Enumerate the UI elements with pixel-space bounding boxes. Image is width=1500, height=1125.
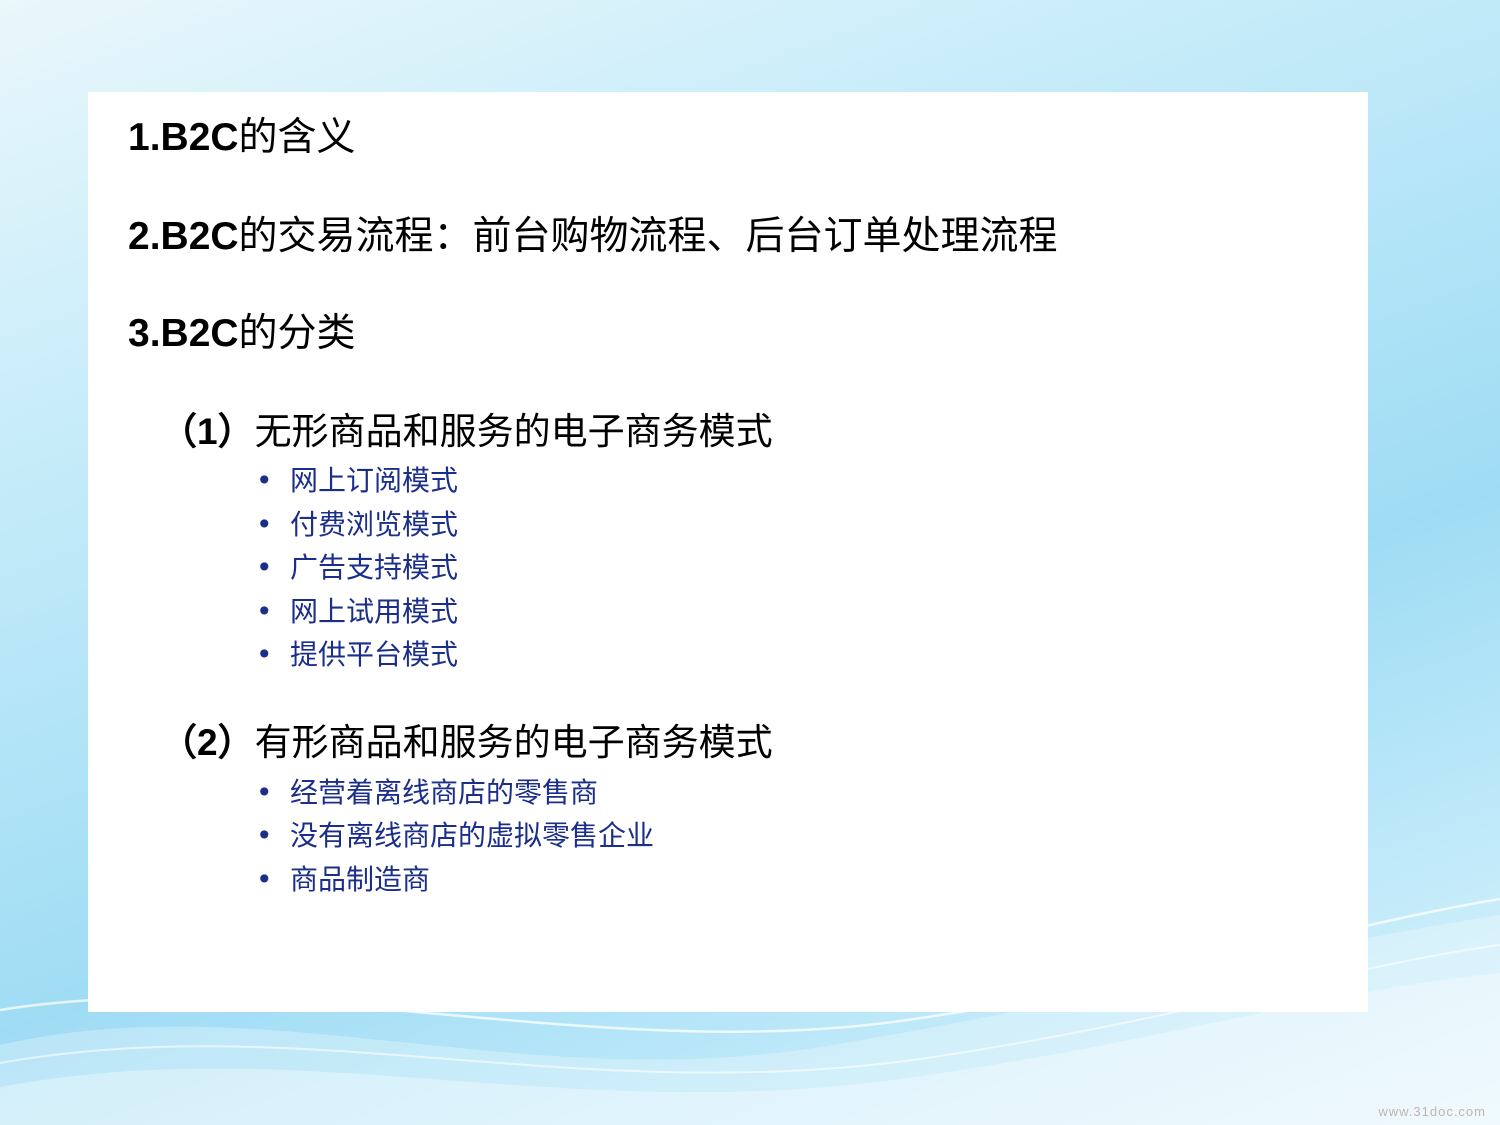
outline-item-1-lead: 1.B2C (128, 116, 239, 159)
subgroup-2-heading: （2）有形商品和服务的电子商务模式 (160, 722, 1328, 765)
subgroup-1-number: （1） (160, 411, 255, 452)
bullet-dot-icon: • (256, 546, 273, 589)
list-item-label: 广告支持模式 (290, 551, 458, 584)
subgroup-2-bullet-list: •经营着离线商店的零售商 •没有离线商店的虚拟零售企业 •商品制造商 (128, 771, 1328, 901)
list-item-label: 商品制造商 (290, 863, 430, 896)
bullet-dot-icon: • (256, 503, 273, 546)
bullet-dot-icon: • (256, 590, 273, 633)
list-item: •没有离线商店的虚拟零售企业 (128, 814, 1328, 857)
list-item-label: 经营着离线商店的零售商 (290, 776, 598, 809)
subgroup-1-heading: （1）无形商品和服务的电子商务模式 (160, 411, 1328, 454)
outline-item-1-text: 的含义 (239, 115, 356, 160)
list-item-label: 提供平台模式 (290, 638, 458, 671)
outline-item-2-text: 的交易流程：前台购物流程、后台订单处理流程 (239, 214, 1058, 259)
bullet-dot-icon: • (256, 858, 273, 901)
list-item-label: 网上试用模式 (290, 595, 458, 628)
subgroup-2-number: （2） (160, 722, 255, 763)
list-item: •提供平台模式 (128, 633, 1328, 676)
outline-item-3-text: 的分类 (239, 311, 356, 356)
bullet-dot-icon: • (256, 633, 273, 676)
outline-item-3-lead: 3.B2C (128, 312, 239, 355)
list-item: •网上订阅模式 (128, 459, 1328, 502)
bullet-dot-icon: • (256, 814, 273, 857)
spacer-3 (128, 355, 1328, 411)
outline-item-1: 1.B2C的含义 (128, 118, 1328, 159)
outline-item-2: 2.B2C的交易流程：前台购物流程、后台订单处理流程 (128, 217, 1328, 258)
subgroup-1-bullet-list: •网上订阅模式 •付费浏览模式 •广告支持模式 •网上试用模式 •提供平台模式 (128, 459, 1328, 676)
bullet-dot-icon: • (256, 459, 273, 502)
list-item: •广告支持模式 (128, 546, 1328, 589)
list-item: •付费浏览模式 (128, 503, 1328, 546)
subgroup-1-title: 无形商品和服务的电子商务模式 (255, 410, 773, 453)
spacer-2 (128, 258, 1328, 314)
list-item-label: 付费浏览模式 (290, 508, 458, 541)
spacer-1 (128, 159, 1328, 217)
subgroup-2-title: 有形商品和服务的电子商务模式 (255, 721, 773, 764)
list-item: •经营着离线商店的零售商 (128, 771, 1328, 814)
outline-item-2-lead: 2.B2C (128, 215, 239, 258)
spacer-4 (128, 676, 1328, 722)
slide-canvas: 1.B2C的含义 2.B2C的交易流程：前台购物流程、后台订单处理流程 3.B2… (0, 0, 1500, 1125)
list-item-label: 网上订阅模式 (290, 464, 458, 497)
watermark-text: www.31doc.com (1378, 1104, 1486, 1119)
list-item-label: 没有离线商店的虚拟零售企业 (290, 819, 654, 852)
list-item: •网上试用模式 (128, 590, 1328, 633)
list-item: •商品制造商 (128, 858, 1328, 901)
outline-item-3: 3.B2C的分类 (128, 314, 1328, 355)
slide-content-card: 1.B2C的含义 2.B2C的交易流程：前台购物流程、后台订单处理流程 3.B2… (88, 92, 1368, 1012)
bullet-dot-icon: • (256, 771, 273, 814)
